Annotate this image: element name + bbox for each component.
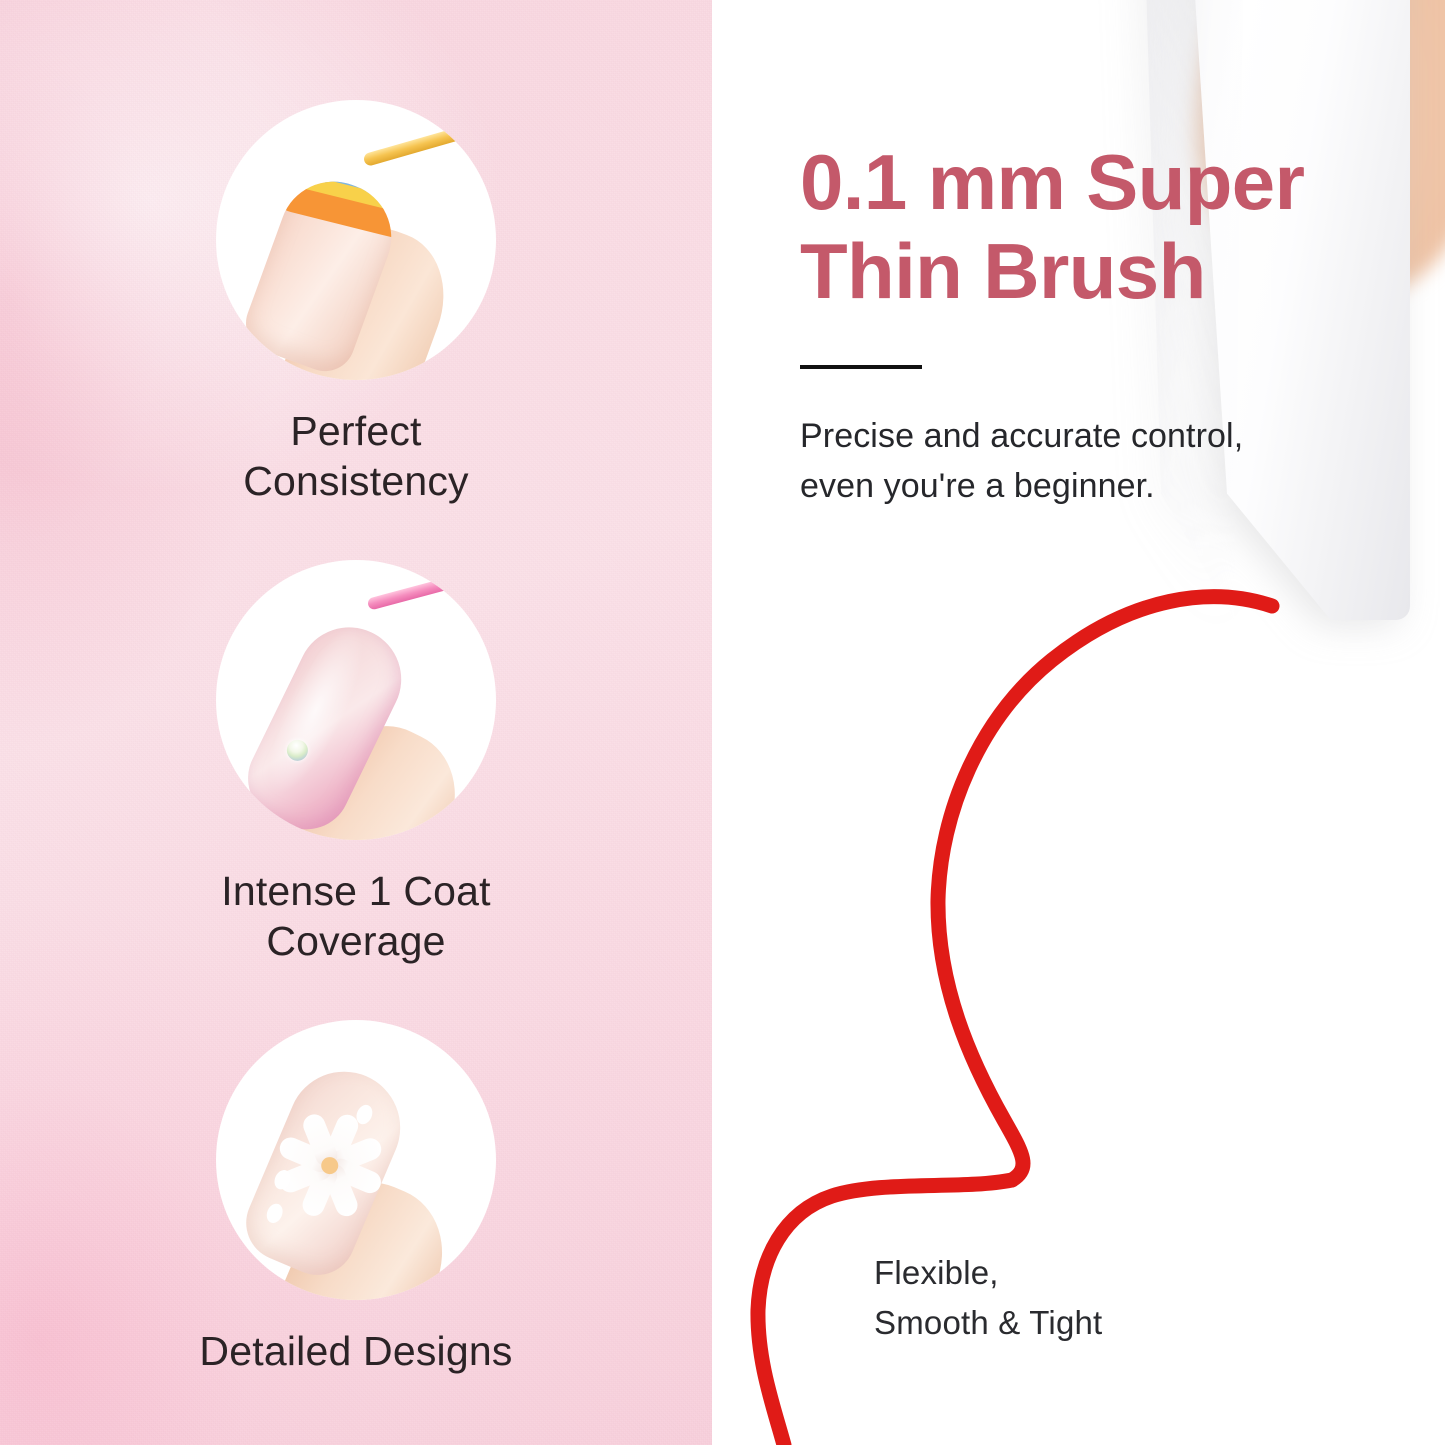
page-title: 0.1 mm Super Thin Brush xyxy=(800,138,1420,316)
nail-rainbow-wave-photo xyxy=(216,100,496,380)
feature-caption: Intense 1 Coat Coverage xyxy=(0,866,712,967)
product-infographic: Perfect Consistency Intense 1 Coat Cover… xyxy=(0,0,1445,1445)
pink-brush-illustration xyxy=(367,565,496,610)
feature-detailed-designs: Detailed Designs xyxy=(0,1020,712,1376)
flexible-note: Flexible, Smooth & Tight xyxy=(874,1248,1294,1347)
feature-intense-coverage: Intense 1 Coat Coverage xyxy=(0,560,712,967)
nail-glossy-pink-photo xyxy=(216,560,496,840)
daisy-flower xyxy=(315,1054,418,1098)
feature-perfect-consistency: Perfect Consistency xyxy=(0,100,712,507)
feature-caption: Perfect Consistency xyxy=(0,406,712,507)
product-panel: 0.1 mm Super Thin Brush Precise and accu… xyxy=(712,0,1445,1445)
divider-rule xyxy=(800,365,922,369)
subtitle-text: Precise and accurate control, even you'r… xyxy=(800,412,1360,511)
rhinestone-gem xyxy=(283,736,311,764)
accent-dot xyxy=(264,1201,286,1225)
nail-daisy-flower-photo xyxy=(216,1020,496,1300)
rainbow-stripes xyxy=(266,166,406,275)
features-panel: Perfect Consistency Intense 1 Coat Cover… xyxy=(0,0,712,1445)
yellow-brush-illustration xyxy=(362,122,479,167)
feature-caption: Detailed Designs xyxy=(0,1326,712,1376)
